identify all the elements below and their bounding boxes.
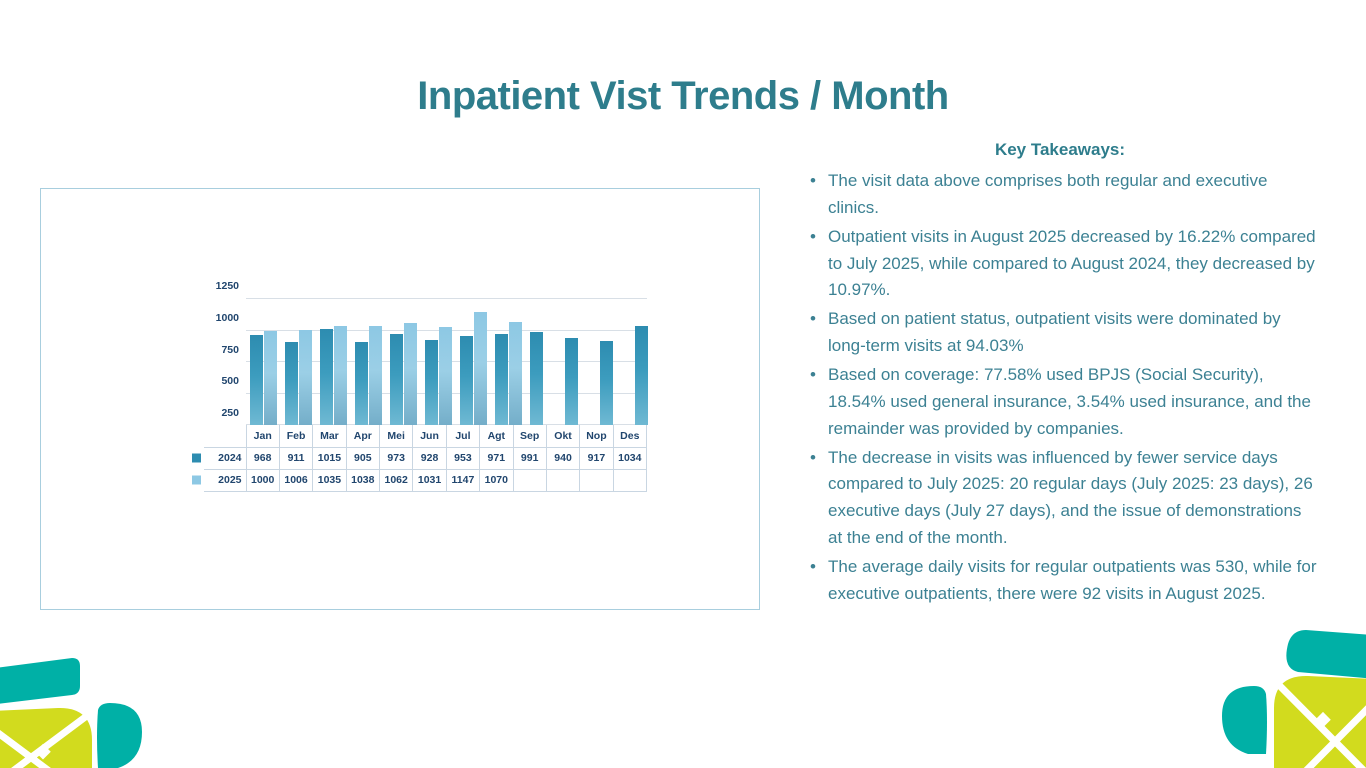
column-header: Agt	[480, 425, 513, 447]
chart-plot-area: 25050075010001250	[246, 299, 647, 425]
key-takeaways-section: Key Takeaways: The visit data above comp…	[800, 140, 1320, 610]
table-cell: 940	[546, 447, 579, 469]
column-header: Feb	[279, 425, 312, 447]
table-cell: 911	[279, 447, 312, 469]
decorative-shape-bottom-left	[0, 628, 170, 768]
table-cell: 905	[346, 447, 379, 469]
column-header: Nop	[580, 425, 613, 447]
bar-2024-Jun	[425, 340, 438, 425]
takeaway-item: The average daily visits for regular out…	[800, 554, 1320, 608]
bar-2025-Feb	[299, 330, 312, 425]
bar-2024-Jul	[460, 336, 473, 425]
bar-2025-Mar	[334, 326, 347, 425]
deco-right-teal-top	[1286, 630, 1366, 680]
column-header: Sep	[513, 425, 546, 447]
bar-2025-Jul	[474, 312, 487, 425]
y-axis-tick-label: 750	[221, 344, 246, 356]
bar-group	[316, 299, 351, 425]
bar-group	[596, 299, 631, 425]
deco-left-teal-top	[0, 658, 80, 706]
key-takeaways-list: The visit data above comprises both regu…	[800, 168, 1320, 608]
bar-group	[421, 299, 456, 425]
bar-2025-Mei	[404, 323, 417, 425]
takeaway-item: Outpatient visits in August 2025 decreas…	[800, 224, 1320, 305]
bar-2024-Feb	[285, 342, 298, 425]
table-cell: 1062	[380, 469, 413, 491]
bar-2024-Okt	[565, 338, 578, 425]
takeaway-item: The visit data above comprises both regu…	[800, 168, 1320, 222]
takeaway-item: Based on coverage: 77.58% used BPJS (Soc…	[800, 362, 1320, 443]
table-row: 2024968911101590597392895397199194091710…	[204, 447, 647, 469]
table-cell: 1031	[413, 469, 446, 491]
bar-2024-Mar	[320, 329, 333, 425]
bar-2025-Jan	[264, 331, 277, 426]
column-header: Jun	[413, 425, 446, 447]
table-cell: 1035	[313, 469, 346, 491]
table-cell: 1000	[246, 469, 279, 491]
bar-group	[246, 299, 281, 425]
deco-right-lime-block	[1274, 676, 1366, 768]
table-cell	[613, 469, 646, 491]
table-cell	[580, 469, 613, 491]
chart-panel: 25050075010001250 JanFebMarAprMeiJunJulA…	[40, 188, 760, 610]
table-row-months: JanFebMarAprMeiJunJulAgtSepOktNopDes	[204, 425, 647, 447]
bar-chart: 25050075010001250 JanFebMarAprMeiJunJulA…	[204, 299, 647, 495]
series-label-2024: 2024	[204, 447, 246, 469]
y-axis-tick-label: 1000	[216, 312, 246, 324]
deco-left-teal-blob	[97, 703, 142, 768]
column-header: Okt	[546, 425, 579, 447]
legend-swatch-2025	[192, 476, 201, 485]
table-cell: 968	[246, 447, 279, 469]
y-axis-tick-label: 500	[221, 375, 246, 387]
bar-group	[561, 299, 596, 425]
bar-group	[386, 299, 421, 425]
column-header: Mar	[313, 425, 346, 447]
table-cell: 1015	[313, 447, 346, 469]
bar-2024-Mei	[390, 334, 403, 425]
table-cell: 1034	[613, 447, 646, 469]
column-header: Jan	[246, 425, 279, 447]
table-cell: 1006	[279, 469, 312, 491]
column-header: Apr	[346, 425, 379, 447]
table-cell: 953	[446, 447, 479, 469]
bar-2025-Apr	[369, 326, 382, 425]
bar-group	[281, 299, 316, 425]
table-cell: 928	[413, 447, 446, 469]
bar-group	[456, 299, 491, 425]
legend-swatch-2024	[192, 454, 201, 463]
series-label-2025: 2025	[204, 469, 246, 491]
table-cell: 1038	[346, 469, 379, 491]
y-axis-tick-label: 250	[221, 407, 246, 419]
bar-group	[351, 299, 386, 425]
page-title: Inpatient Vist Trends / Month	[0, 74, 1366, 119]
table-corner-cell	[204, 425, 246, 447]
table-cell: 991	[513, 447, 546, 469]
table-cell: 971	[480, 447, 513, 469]
deco-left-lime-block	[0, 708, 92, 768]
chart-data-table: JanFebMarAprMeiJunJulAgtSepOktNopDes2024…	[204, 425, 647, 492]
bar-group	[631, 299, 666, 425]
table-cell: 1147	[446, 469, 479, 491]
bar-2024-Des	[635, 326, 648, 425]
column-header: Des	[613, 425, 646, 447]
bar-2024-Apr	[355, 342, 368, 425]
column-header: Jul	[446, 425, 479, 447]
table-row: 202510001006103510381062103111471070	[204, 469, 647, 491]
table-cell	[546, 469, 579, 491]
table-cell: 1070	[480, 469, 513, 491]
bar-group	[526, 299, 561, 425]
column-header: Mei	[380, 425, 413, 447]
deco-right-teal-blob	[1222, 686, 1267, 754]
key-takeaways-heading: Key Takeaways:	[800, 140, 1320, 160]
table-cell: 917	[580, 447, 613, 469]
bar-2024-Sep	[530, 332, 543, 425]
bar-2025-Jun	[439, 327, 452, 425]
bar-2024-Agt	[495, 334, 508, 425]
y-axis-tick-label: 1250	[216, 280, 246, 292]
takeaway-item: The decrease in visits was influenced by…	[800, 445, 1320, 552]
bar-2024-Jan	[250, 335, 263, 425]
table-cell	[513, 469, 546, 491]
bar-group	[491, 299, 526, 425]
bar-2025-Agt	[509, 322, 522, 425]
decorative-shape-bottom-right	[1196, 628, 1366, 768]
table-cell: 973	[380, 447, 413, 469]
takeaway-item: Based on patient status, outpatient visi…	[800, 306, 1320, 360]
bar-2024-Nop	[600, 341, 613, 425]
chart-bars	[246, 299, 647, 425]
